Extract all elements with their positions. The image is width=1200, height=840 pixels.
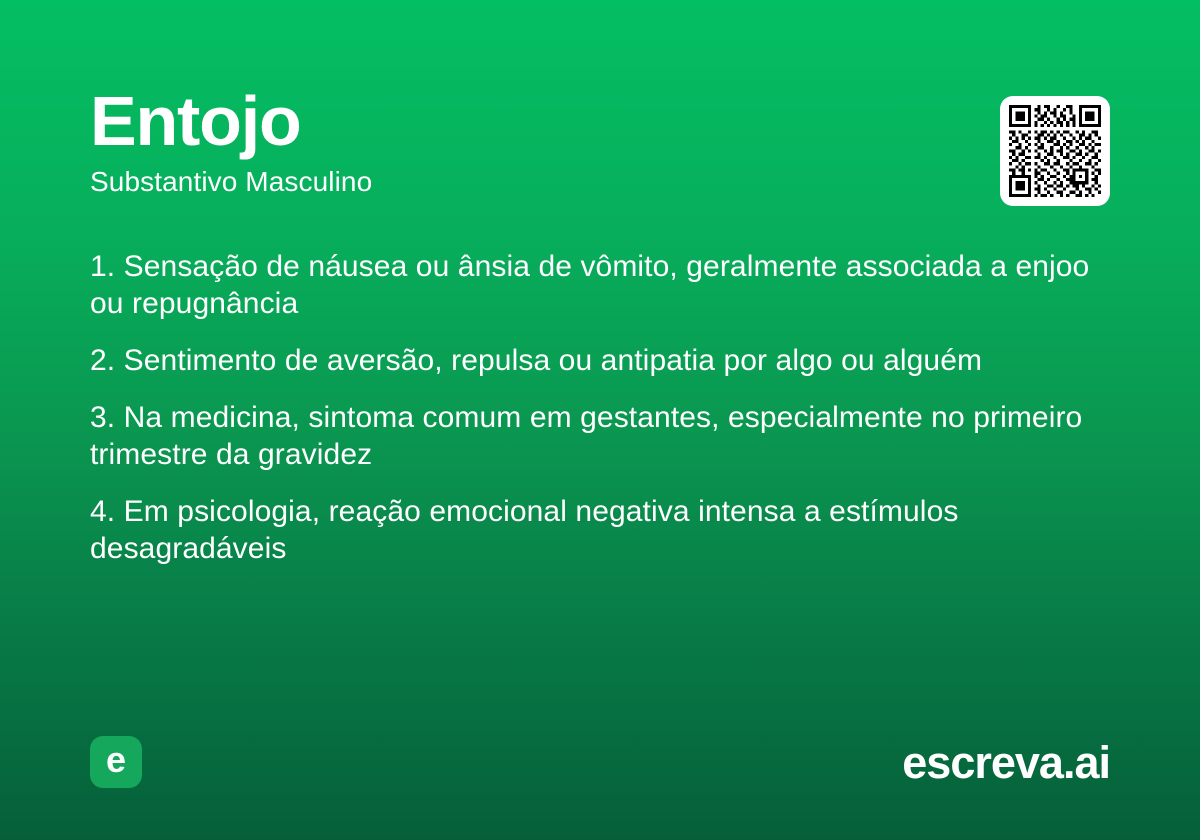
- word-class-label: Substantivo Masculino: [90, 166, 1110, 198]
- definition-item-3: 3. Na medicina, sintoma comum em gestant…: [90, 399, 1110, 473]
- card-header: Entojo Substantivo Masculino: [90, 86, 1110, 206]
- card-footer: e escreva.ai: [90, 736, 1110, 788]
- definitions-list: 1. Sensação de náusea ou ânsia de vômito…: [90, 248, 1110, 567]
- escreva-logo-icon[interactable]: e: [90, 736, 142, 788]
- definition-item-4: 4. Em psicologia, reação emocional negat…: [90, 493, 1110, 567]
- qr-code[interactable]: [1000, 96, 1110, 206]
- word-title: Entojo: [90, 86, 1110, 156]
- definition-item-1: 1. Sensação de náusea ou ânsia de vômito…: [90, 248, 1110, 322]
- definition-item-2: 2. Sentimento de aversão, repulsa ou ant…: [90, 342, 1110, 379]
- brand-name: escreva.ai: [902, 740, 1110, 785]
- definition-card: Entojo Substantivo Masculino: [0, 0, 1200, 840]
- qr-code-icon: [1009, 105, 1101, 197]
